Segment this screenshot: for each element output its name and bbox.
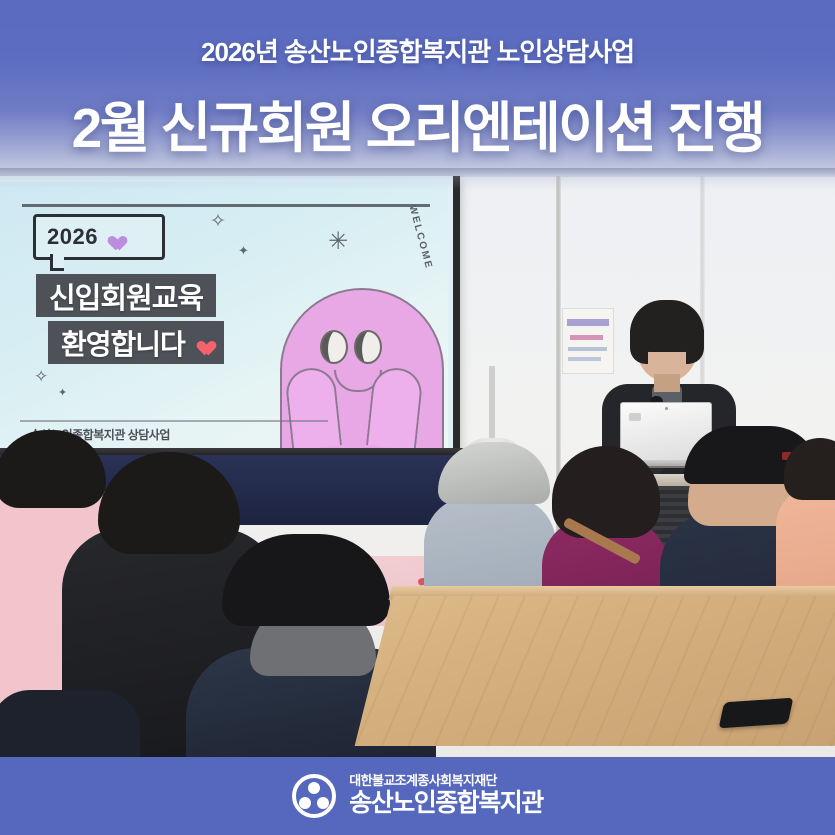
logo-dot	[299, 797, 311, 809]
projection-screen: 2026 신입회원교육 환영합니다 ✧ ✦ ✳ ✧ ✦	[0, 176, 460, 456]
fixture-arm	[489, 366, 495, 442]
three-dot-circle-logo-icon	[292, 774, 336, 818]
smartphone-on-table	[719, 698, 794, 729]
presenter-hair-side	[686, 330, 704, 364]
header-title: 2월 신규회원 오리엔테이션 진행	[0, 83, 835, 163]
presenter-hair-side	[630, 330, 648, 364]
audience-member-foreground	[0, 690, 140, 762]
footer-org-center: 송산노인종합복지관	[349, 789, 543, 818]
footer: 대한불교조계종사회복지재단 송산노인종합복지관	[0, 757, 835, 835]
footer-org-foundation: 대한불교조계종사회복지재단	[349, 774, 543, 789]
laptop-camera	[665, 407, 668, 410]
header: 2026년 송산노인종합복지관 노인상담사업 2월 신규회원 오리엔테이션 진행	[0, 0, 835, 163]
laptop-logo	[629, 413, 641, 421]
header-subtitle: 2026년 송산노인종합복지관 노인상담사업	[0, 32, 835, 69]
presenter-neck	[654, 374, 680, 392]
promo-card: 2026 신입회원교육 환영합니다 ✧ ✦ ✳ ✧ ✦	[0, 0, 835, 835]
screen-frame	[0, 176, 460, 456]
logo-dot	[308, 782, 320, 794]
logo-dot	[317, 797, 329, 809]
footer-text-block: 대한불교조계종사회복지재단 송산노인종합복지관	[349, 774, 543, 818]
